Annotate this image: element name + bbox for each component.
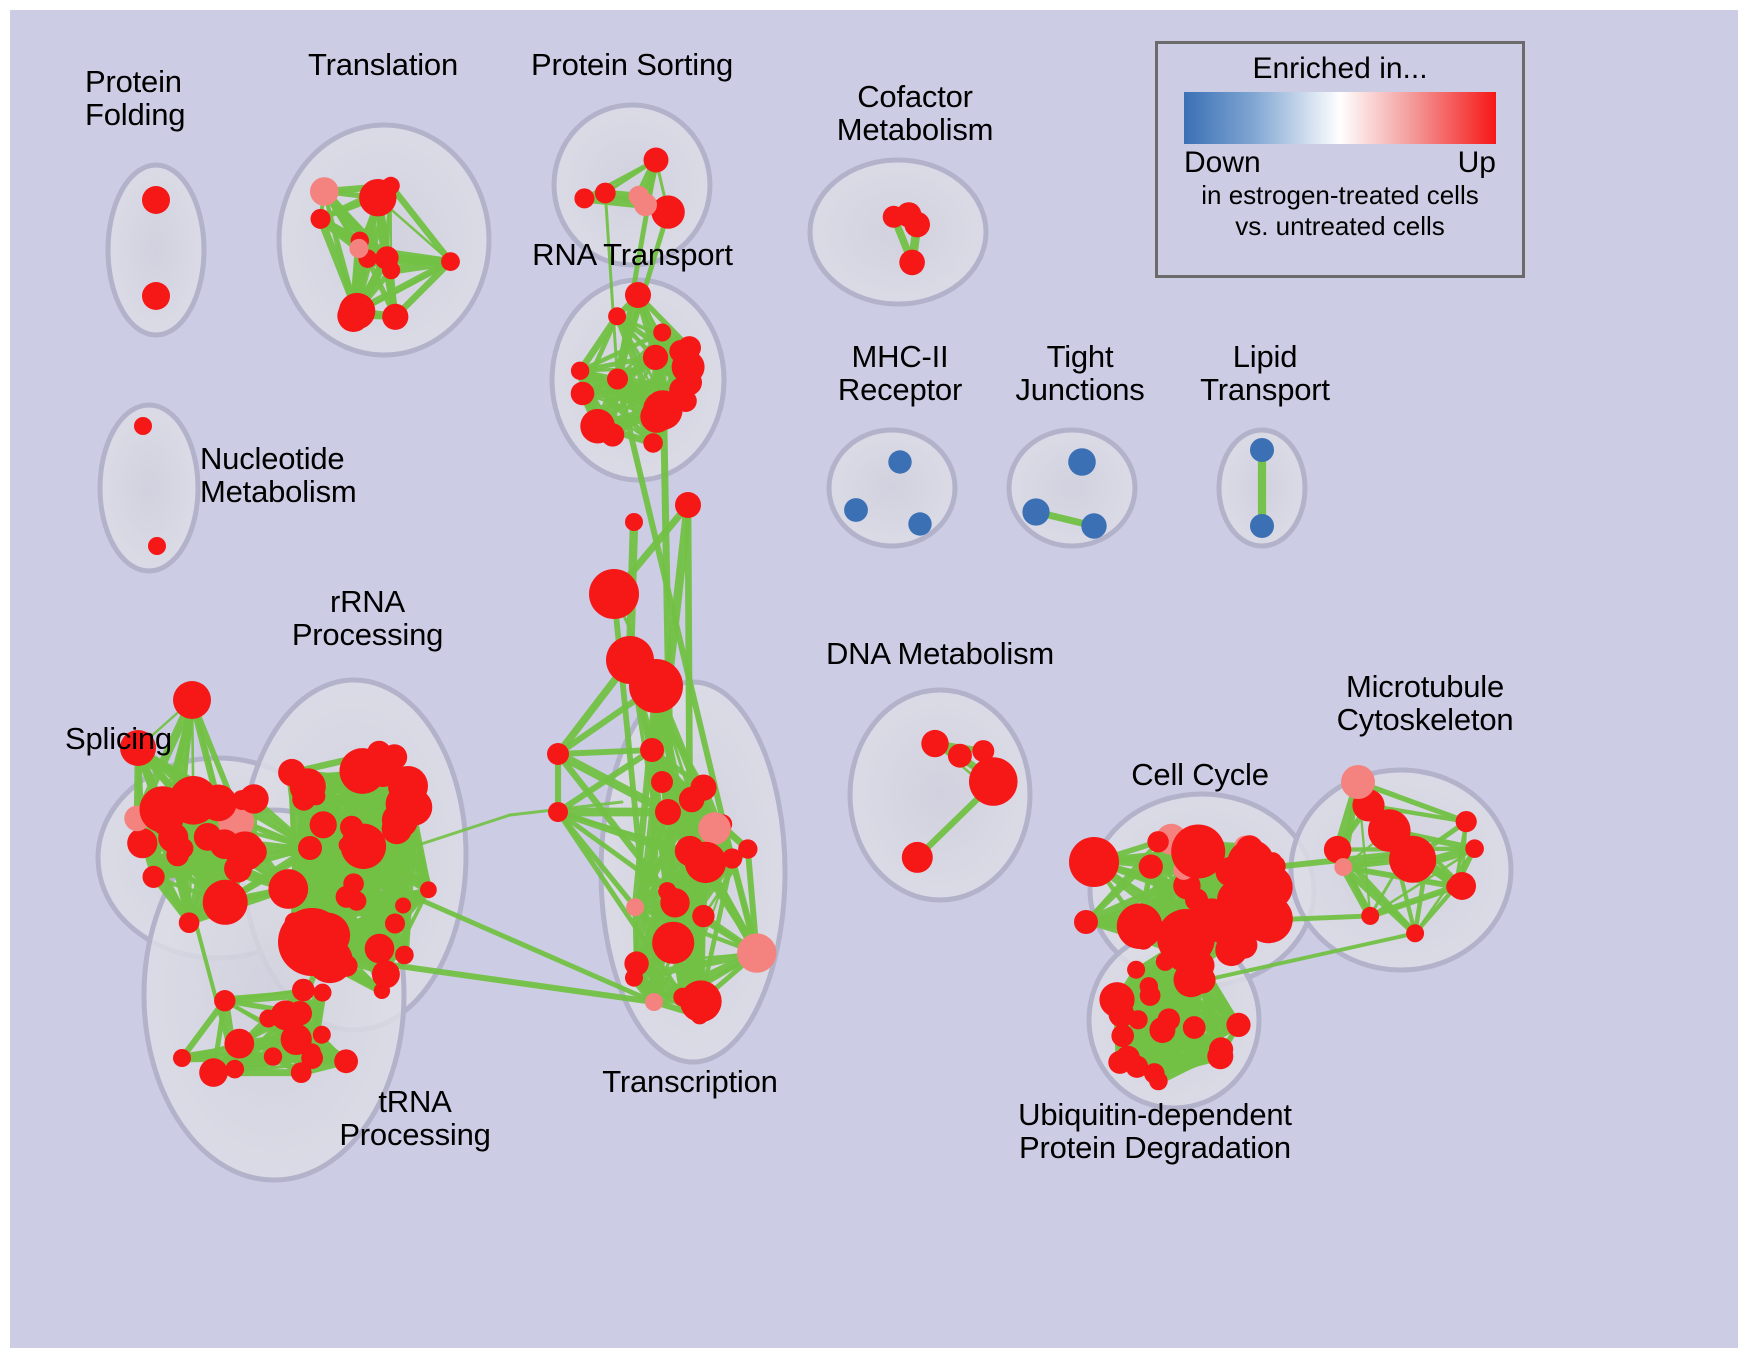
network-node[interactable] bbox=[382, 304, 408, 330]
network-node[interactable] bbox=[737, 933, 776, 972]
network-node[interactable] bbox=[385, 914, 405, 934]
network-node[interactable] bbox=[1116, 1046, 1140, 1070]
network-canvas: Protein FoldingTranslationProtein Sortin… bbox=[10, 10, 1738, 1348]
network-node[interactable] bbox=[179, 912, 200, 933]
cluster-label-rrna-processing: rRNA Processing bbox=[260, 585, 475, 652]
legend-title: Enriched in... bbox=[1184, 52, 1496, 86]
network-node[interactable] bbox=[224, 855, 252, 883]
network-node[interactable] bbox=[173, 1049, 191, 1067]
cluster-ellipse-mhc-ii-receptor bbox=[829, 430, 955, 546]
network-node[interactable] bbox=[1417, 853, 1437, 873]
network-node[interactable] bbox=[547, 743, 569, 765]
network-node[interactable] bbox=[908, 512, 931, 535]
network-node[interactable] bbox=[226, 1060, 245, 1079]
network-node[interactable] bbox=[902, 842, 933, 873]
network-node[interactable] bbox=[629, 186, 650, 207]
network-node[interactable] bbox=[1117, 903, 1163, 949]
network-node[interactable] bbox=[1361, 907, 1379, 925]
network-node[interactable] bbox=[678, 336, 701, 359]
network-node[interactable] bbox=[652, 922, 694, 964]
cluster-label-trna-processing: tRNA Processing bbox=[310, 1085, 520, 1152]
network-node[interactable] bbox=[200, 785, 237, 822]
network-node[interactable] bbox=[206, 886, 240, 920]
network-node[interactable] bbox=[395, 898, 411, 914]
network-node[interactable] bbox=[278, 908, 346, 976]
network-node[interactable] bbox=[738, 839, 757, 858]
cluster-label-translation: Translation bbox=[268, 48, 498, 81]
network-node[interactable] bbox=[420, 881, 437, 898]
network-node[interactable] bbox=[1147, 831, 1168, 852]
network-node[interactable] bbox=[341, 824, 386, 869]
network-node[interactable] bbox=[1081, 513, 1106, 538]
network-node[interactable] bbox=[643, 390, 683, 430]
network-node[interactable] bbox=[173, 681, 211, 719]
network-node[interactable] bbox=[644, 148, 669, 173]
network-node[interactable] bbox=[608, 307, 626, 325]
network-node[interactable] bbox=[571, 382, 595, 406]
network-node[interactable] bbox=[264, 1047, 282, 1065]
network-node[interactable] bbox=[653, 324, 671, 342]
network-node[interactable] bbox=[224, 1029, 254, 1059]
network-node[interactable] bbox=[888, 450, 911, 473]
network-node[interactable] bbox=[883, 206, 905, 228]
network-node[interactable] bbox=[349, 239, 368, 258]
network-node[interactable] bbox=[643, 433, 663, 453]
cluster-label-cell-cycle: Cell Cycle bbox=[1100, 758, 1300, 791]
network-node[interactable] bbox=[1157, 909, 1215, 967]
network-node[interactable] bbox=[148, 537, 166, 555]
legend-subtitle-line1: in estrogen-treated cells bbox=[1184, 180, 1496, 211]
cluster-ellipse-tight-junctions bbox=[1009, 430, 1135, 546]
network-node[interactable] bbox=[643, 345, 668, 370]
network-node[interactable] bbox=[1144, 1063, 1165, 1084]
network-node[interactable] bbox=[629, 659, 683, 713]
network-node[interactable] bbox=[651, 195, 684, 228]
cluster-label-mhc-ii-receptor: MHC-II Receptor bbox=[810, 340, 990, 407]
network-node[interactable] bbox=[640, 738, 664, 762]
network-node[interactable] bbox=[675, 492, 701, 518]
network-node[interactable] bbox=[921, 730, 948, 757]
network-node[interactable] bbox=[214, 990, 235, 1011]
network-node[interactable] bbox=[1129, 1010, 1148, 1029]
cluster-label-microtubule-cytoskeleton: Microtubule Cytoskeleton bbox=[1300, 670, 1550, 737]
network-node[interactable] bbox=[1250, 514, 1274, 538]
network-node[interactable] bbox=[607, 369, 628, 390]
network-node[interactable] bbox=[298, 836, 322, 860]
network-node[interactable] bbox=[313, 1026, 331, 1044]
network-node[interactable] bbox=[334, 1049, 358, 1073]
cluster-label-cofactor-metabolism: Cofactor Metabolism bbox=[800, 80, 1030, 147]
legend-up-label: Up bbox=[1458, 146, 1496, 180]
network-node[interactable] bbox=[1140, 977, 1158, 995]
cluster-label-dna-metabolism: DNA Metabolism bbox=[810, 637, 1070, 670]
network-node[interactable] bbox=[1227, 840, 1274, 887]
network-node[interactable] bbox=[626, 898, 644, 916]
enrichment-network-figure: Protein FoldingTranslationProtein Sortin… bbox=[0, 0, 1750, 1360]
legend-down-label: Down bbox=[1184, 146, 1261, 180]
network-node[interactable] bbox=[1406, 924, 1424, 942]
network-node[interactable] bbox=[624, 951, 648, 975]
network-node[interactable] bbox=[127, 828, 157, 858]
network-node[interactable] bbox=[1111, 1025, 1134, 1048]
network-node[interactable] bbox=[1149, 1017, 1175, 1043]
network-node[interactable] bbox=[311, 209, 331, 229]
network-edge bbox=[558, 750, 652, 754]
legend-gradient-bar bbox=[1184, 92, 1496, 144]
network-node[interactable] bbox=[292, 979, 315, 1002]
network-node[interactable] bbox=[691, 1006, 709, 1024]
network-node[interactable] bbox=[382, 177, 400, 195]
cluster-label-ubiquitin-degradation: Ubiquitin-dependent Protein Degradation bbox=[990, 1098, 1320, 1165]
network-node[interactable] bbox=[314, 984, 332, 1002]
network-node[interactable] bbox=[1448, 872, 1476, 900]
network-node[interactable] bbox=[143, 866, 165, 888]
network-node[interactable] bbox=[1139, 855, 1163, 879]
network-node[interactable] bbox=[899, 250, 925, 276]
network-node[interactable] bbox=[655, 799, 681, 825]
network-node[interactable] bbox=[303, 1043, 321, 1061]
network-node[interactable] bbox=[1209, 1037, 1233, 1061]
cluster-label-splicing: Splicing bbox=[65, 722, 225, 755]
network-node[interactable] bbox=[685, 842, 726, 883]
network-node[interactable] bbox=[595, 183, 616, 204]
network-node[interactable] bbox=[337, 300, 369, 332]
network-node[interactable] bbox=[844, 498, 868, 522]
network-node[interactable] bbox=[1183, 1016, 1206, 1039]
network-node[interactable] bbox=[343, 873, 364, 894]
network-node[interactable] bbox=[268, 869, 308, 909]
network-node[interactable] bbox=[232, 790, 252, 810]
network-node[interactable] bbox=[948, 744, 972, 768]
network-node[interactable] bbox=[904, 212, 930, 238]
network-node[interactable] bbox=[651, 771, 673, 793]
network-node[interactable] bbox=[388, 766, 428, 806]
cluster-label-nucleotide-metabolism: Nucleotide Metabolism bbox=[200, 442, 440, 509]
network-node[interactable] bbox=[259, 1010, 277, 1028]
network-node[interactable] bbox=[1171, 825, 1225, 879]
network-node[interactable] bbox=[625, 282, 651, 308]
network-node[interactable] bbox=[690, 775, 716, 801]
network-node[interactable] bbox=[658, 882, 676, 900]
network-node[interactable] bbox=[142, 282, 170, 310]
network-node[interactable] bbox=[310, 177, 339, 206]
network-node[interactable] bbox=[1465, 839, 1484, 858]
network-node[interactable] bbox=[150, 803, 183, 836]
network-node[interactable] bbox=[290, 768, 326, 804]
network-node[interactable] bbox=[441, 252, 460, 271]
cluster-label-tight-junctions: Tight Junctions bbox=[990, 340, 1170, 407]
network-node[interactable] bbox=[372, 960, 400, 988]
legend-subtitle-line2: vs. untreated cells bbox=[1184, 211, 1496, 242]
network-node[interactable] bbox=[1226, 1013, 1250, 1037]
cluster-label-protein-sorting: Protein Sorting bbox=[502, 48, 762, 81]
network-node[interactable] bbox=[589, 569, 639, 619]
network-node[interactable] bbox=[574, 188, 594, 208]
network-node[interactable] bbox=[1069, 837, 1119, 887]
network-node[interactable] bbox=[571, 362, 589, 380]
network-node[interactable] bbox=[1127, 961, 1145, 979]
network-node[interactable] bbox=[142, 186, 170, 214]
network-node[interactable] bbox=[199, 1058, 228, 1087]
network-node[interactable] bbox=[1341, 765, 1375, 799]
network-node[interactable] bbox=[1022, 498, 1049, 525]
network-node[interactable] bbox=[692, 905, 714, 927]
network-node[interactable] bbox=[1334, 858, 1352, 876]
network-node[interactable] bbox=[1068, 448, 1096, 476]
network-node[interactable] bbox=[365, 934, 395, 964]
network-node[interactable] bbox=[1456, 811, 1477, 832]
network-node[interactable] bbox=[310, 811, 337, 838]
cluster-label-transcription: Transcription bbox=[565, 1065, 815, 1098]
network-node[interactable] bbox=[601, 423, 624, 446]
network-node[interactable] bbox=[291, 1062, 312, 1083]
network-node[interactable] bbox=[698, 812, 731, 845]
network-node[interactable] bbox=[645, 993, 663, 1011]
network-node[interactable] bbox=[1250, 438, 1274, 462]
cluster-label-lipid-transport: Lipid Transport bbox=[1170, 340, 1360, 407]
network-node[interactable] bbox=[382, 261, 400, 279]
legend-box: Enriched in... Down Up in estrogen-treat… bbox=[1155, 41, 1525, 278]
network-node[interactable] bbox=[1074, 910, 1098, 934]
legend-endpoint-labels: Down Up bbox=[1184, 146, 1496, 180]
cluster-label-protein-folding: Protein Folding bbox=[85, 65, 285, 132]
network-node[interactable] bbox=[1230, 932, 1257, 959]
network-node[interactable] bbox=[625, 513, 643, 531]
network-node[interactable] bbox=[395, 946, 414, 965]
cluster-label-rna-transport: RNA Transport bbox=[505, 238, 760, 271]
network-node[interactable] bbox=[548, 802, 568, 822]
network-node[interactable] bbox=[210, 829, 240, 859]
network-node[interactable] bbox=[134, 417, 152, 435]
network-node[interactable] bbox=[974, 774, 1002, 802]
